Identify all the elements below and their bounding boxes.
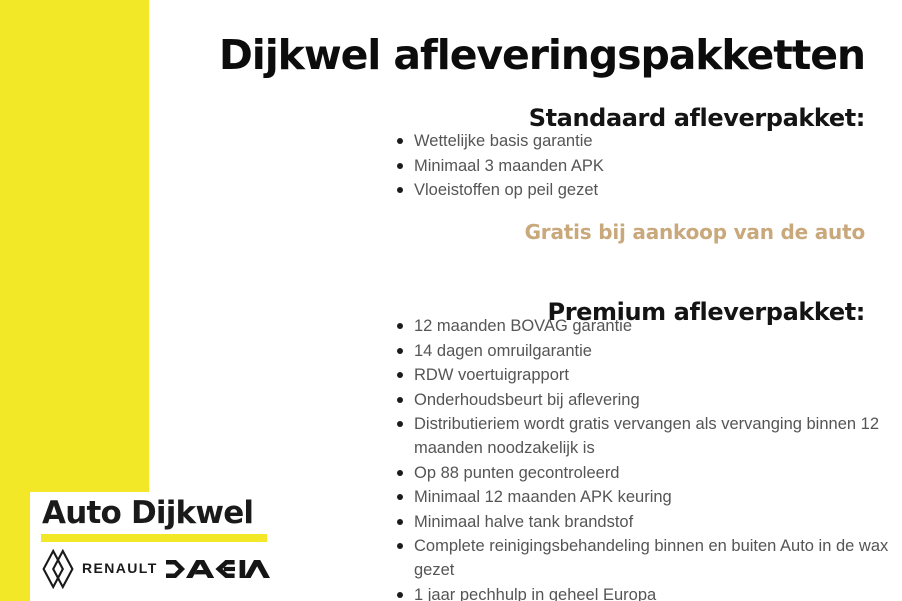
content-column: Dijkwel afleveringspakketten Standaard a… xyxy=(149,0,902,601)
list-item-label: Op 88 punten gecontroleerd xyxy=(414,461,894,485)
list-item-label: Wettelijke basis garantie xyxy=(414,129,894,153)
bullet-icon xyxy=(397,421,403,427)
list-item: 12 maanden BOVAG garantie xyxy=(414,314,894,338)
list-item: 14 dagen omruilgarantie xyxy=(414,339,894,363)
list-item: Wettelijke basis garantie xyxy=(414,129,894,153)
list-item-label: Onderhoudsbeurt bij aflevering xyxy=(414,388,894,412)
list-item-label: 1 jaar pechhulp in geheel Europa xyxy=(414,583,894,601)
list-item: Distributieriem wordt gratis vervangen a… xyxy=(414,412,894,460)
bullet-icon xyxy=(397,138,403,144)
list-item-label: Vloeistoffen op peil gezet xyxy=(414,178,894,202)
bullet-icon xyxy=(397,494,403,500)
standard-package-list: Wettelijke basis garantie Minimaal 3 maa… xyxy=(394,129,894,203)
list-item-label: Complete reinigingsbehandeling binnen en… xyxy=(414,534,894,582)
bullet-icon xyxy=(397,187,403,193)
renault-diamond-icon xyxy=(41,549,75,589)
list-item-label: 12 maanden BOVAG garantie xyxy=(414,314,894,338)
free-with-purchase-tagline: Gratis bij aankoop van de auto xyxy=(149,219,865,246)
list-item: Onderhoudsbeurt bij aflevering xyxy=(414,388,894,412)
bullet-icon xyxy=(397,348,403,354)
poster-canvas: Auto Dijkwel RENAULT xyxy=(0,0,902,601)
premium-package-list: 12 maanden BOVAG garantie 14 dagen omrui… xyxy=(394,314,894,601)
list-item: 1 jaar pechhulp in geheel Europa xyxy=(414,583,894,601)
list-item-label: 14 dagen omruilgarantie xyxy=(414,339,894,363)
list-item: Minimaal halve tank brandstof xyxy=(414,510,894,534)
list-item-label: Distributieriem wordt gratis vervangen a… xyxy=(414,412,894,460)
list-item: Op 88 punten gecontroleerd xyxy=(414,461,894,485)
page-title: Dijkwel afleveringspakketten xyxy=(149,29,865,81)
bullet-icon xyxy=(397,372,403,378)
bullet-icon xyxy=(397,592,403,598)
list-item-label: Minimaal 12 maanden APK keuring xyxy=(414,485,894,509)
bullet-icon xyxy=(397,323,403,329)
list-item: Minimaal 3 maanden APK xyxy=(414,154,894,178)
list-item: Minimaal 12 maanden APK keuring xyxy=(414,485,894,509)
list-item: Vloeistoffen op peil gezet xyxy=(414,178,894,202)
list-item-label: RDW voertuigrapport xyxy=(414,363,894,387)
bullet-icon xyxy=(397,163,403,169)
bullet-icon xyxy=(397,519,403,525)
list-item-label: Minimaal 3 maanden APK xyxy=(414,154,894,178)
bullet-icon xyxy=(397,470,403,476)
bullet-icon xyxy=(397,397,403,403)
bullet-icon xyxy=(397,543,403,549)
list-item-label: Minimaal halve tank brandstof xyxy=(414,510,894,534)
list-item: RDW voertuigrapport xyxy=(414,363,894,387)
list-item: Complete reinigingsbehandeling binnen en… xyxy=(414,534,894,582)
renault-label: RENAULT xyxy=(82,559,158,577)
